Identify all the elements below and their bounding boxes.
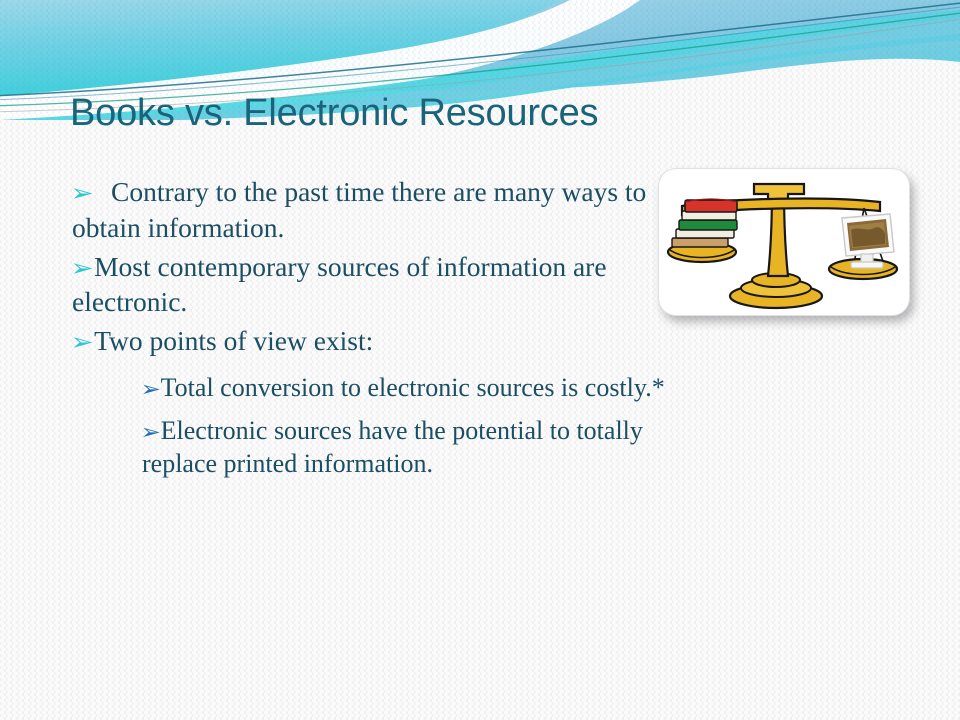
bullet-text: Two points of view exist: xyxy=(94,325,373,356)
sub-bullet-item: ➢Total conversion to electronic sources … xyxy=(62,371,702,404)
sub-bullet-item: ➢Electronic sources have the potential t… xyxy=(62,414,702,481)
bullet-text: Most contemporary sources of information… xyxy=(72,251,607,318)
bullet-text: Total conversion to electronic sources i… xyxy=(161,373,665,402)
bullet-item: ➢Most contemporary sources of informatio… xyxy=(62,249,702,321)
page-title: Books vs. Electronic Resources xyxy=(70,92,598,135)
bullet-text: Contrary to the past time there are many… xyxy=(72,176,646,243)
bullet-arrow-icon: ➢ xyxy=(70,181,93,205)
bullet-arrow-icon: ➢ xyxy=(141,422,161,443)
bullet-arrow-icon: ➢ xyxy=(70,256,93,280)
bullet-arrow-icon: ➢ xyxy=(70,330,93,354)
bullet-text: Electronic sources have the potential to… xyxy=(142,416,643,478)
bullet-arrow-icon: ➢ xyxy=(141,379,161,400)
bullet-item: ➢ Contrary to the past time there are ma… xyxy=(62,174,702,246)
bullet-list: ➢ Contrary to the past time there are ma… xyxy=(62,174,702,491)
bullet-item: ➢Two points of view exist: xyxy=(62,323,702,359)
slide-canvas: Books vs. Electronic Resources ➢ Contrar… xyxy=(0,0,960,720)
